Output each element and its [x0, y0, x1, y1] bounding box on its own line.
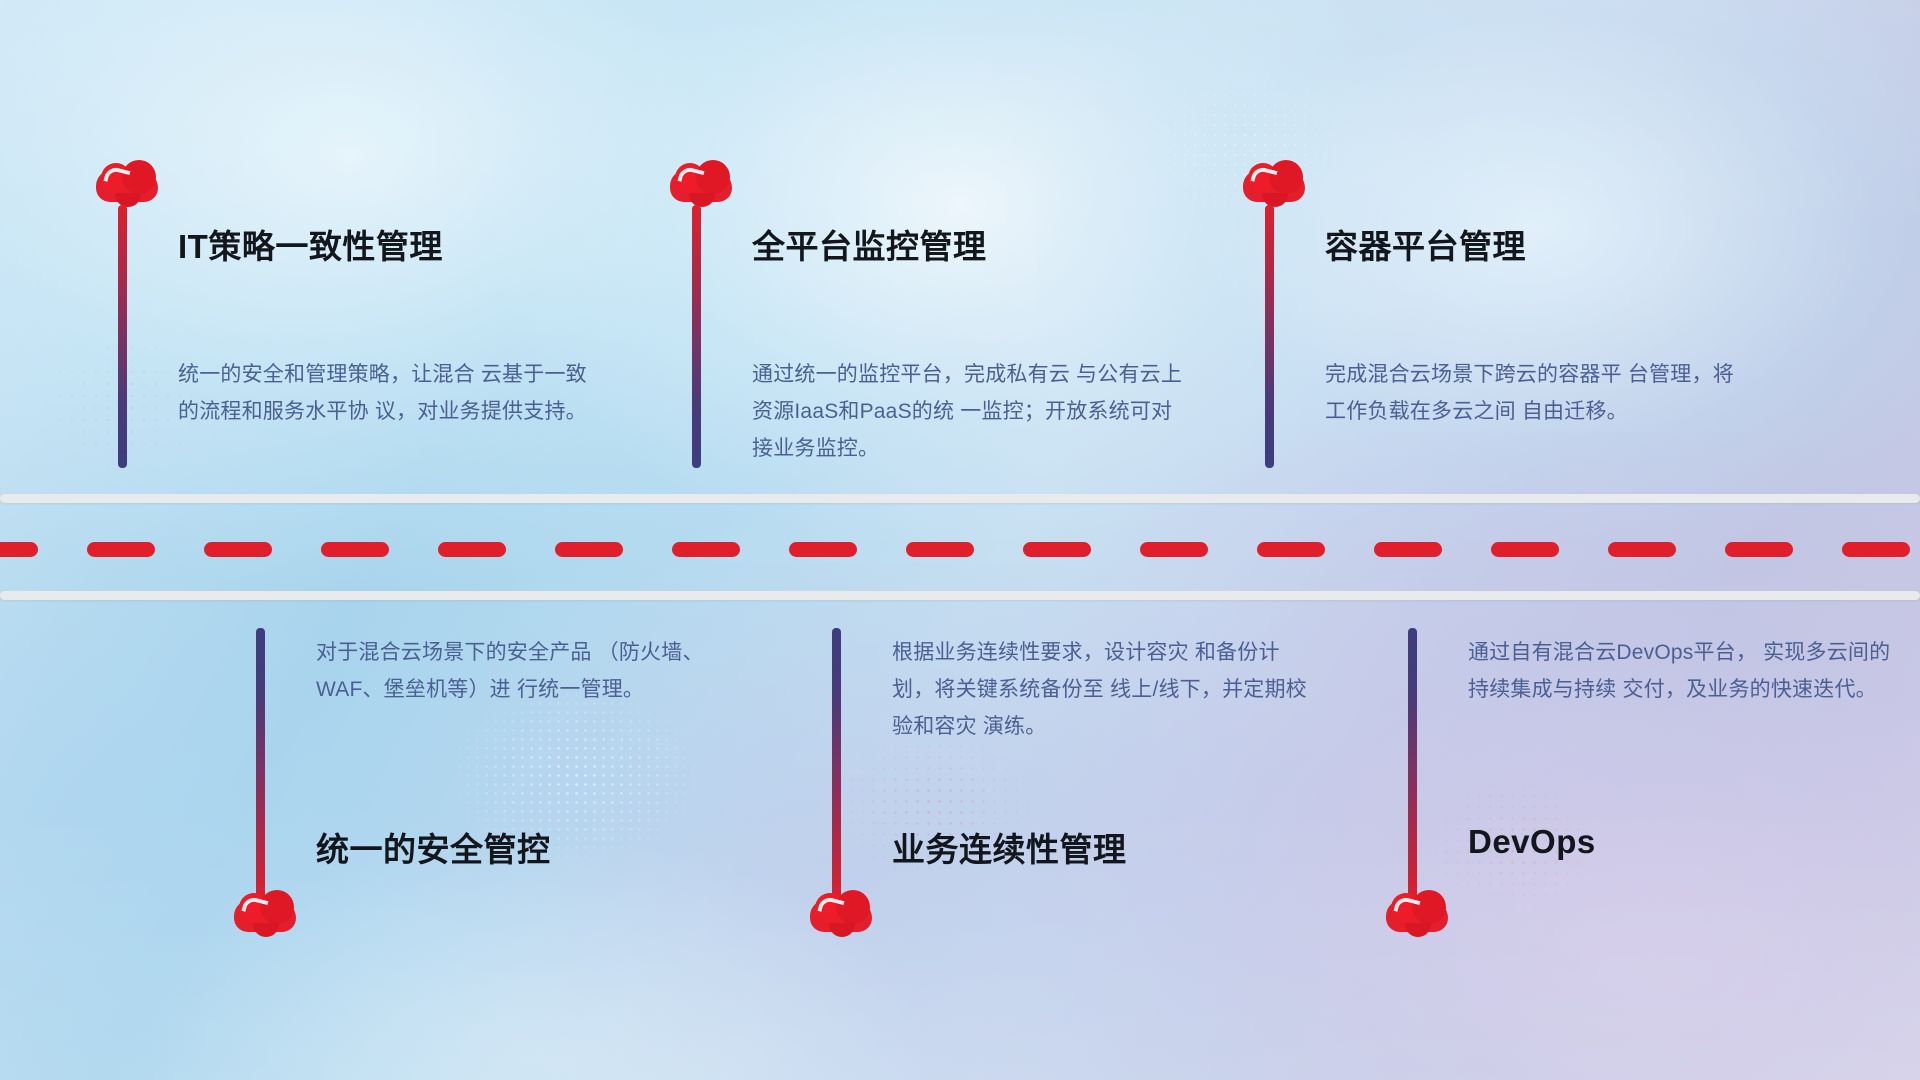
road-dash	[555, 542, 623, 557]
top-column-3-title: 容器平台管理	[1325, 220, 1526, 268]
road-dash	[906, 542, 974, 557]
road-edge-top	[0, 494, 1920, 503]
road-dash	[321, 542, 389, 557]
desc-line: 完成混合云场景下跨云的容器平	[1325, 363, 1622, 386]
bottom-column-3-description: 通过自有混合云DevOps平台， 实现多云间的持续集成与持续 交付，及业务的快速…	[1468, 634, 1898, 708]
cloud-icon	[810, 890, 872, 936]
connector-bar	[118, 205, 127, 468]
connector-bar	[832, 628, 841, 906]
cloud-icon	[670, 160, 732, 206]
desc-line: 自由迁移。	[1522, 400, 1628, 423]
cloud-icon	[234, 890, 296, 936]
road-dash	[1140, 542, 1208, 557]
desc-line: 交付，及业务的快速迭代。	[1622, 678, 1876, 701]
bottom-column-2-description: 根据业务连续性要求，设计容灾 和备份计划，将关键系统备份至 线上/线下，并定期校…	[892, 634, 1322, 745]
desc-line: 通过自有混合云DevOps平台，	[1468, 641, 1757, 664]
road-dash	[87, 542, 155, 557]
top-column-3-description: 完成混合云场景下跨云的容器平 台管理，将工作负载在多云之间 自由迁移。	[1325, 356, 1755, 430]
road-dash	[1023, 542, 1091, 557]
top-column-2-description: 通过统一的监控平台，完成私有云 与公有云上资源IaaS和PaaS的统 一监控；开…	[752, 356, 1192, 467]
connector-bar	[1408, 628, 1417, 906]
road-dash	[438, 542, 506, 557]
road-dash	[1257, 542, 1325, 557]
desc-line: 演练。	[983, 715, 1047, 738]
road-edge-bottom	[0, 591, 1920, 600]
road-dash	[204, 542, 272, 557]
connector-bar	[692, 205, 701, 468]
cloud-icon	[1386, 890, 1448, 936]
bottom-column-1-description: 对于混合云场景下的安全产品 （防火墙、WAF、堡垒机等）进 行统一管理。	[316, 634, 746, 708]
infographic-canvas: IT策略一致性管理 统一的安全和管理策略，让混合 云基于一致的流程和服务水平协 …	[0, 0, 1920, 1080]
connector-bar	[256, 628, 265, 906]
road-center-dashes	[0, 542, 1920, 557]
top-column-2-title: 全平台监控管理	[752, 220, 987, 268]
bottom-column-3-title: DevOps	[1468, 823, 1596, 861]
cloud-icon	[96, 160, 158, 206]
road-dash	[1842, 542, 1910, 557]
road-dash	[1491, 542, 1559, 557]
bottom-column-2-title: 业务连续性管理	[892, 823, 1127, 871]
road-dash	[0, 542, 38, 557]
desc-line: 通过统一的监控平台，完成私有云	[752, 363, 1070, 386]
cloud-icon	[1243, 160, 1305, 206]
top-column-1-description: 统一的安全和管理策略，让混合 云基于一致的流程和服务水平协 议，对业务提供支持。	[178, 356, 608, 430]
road-dash	[1374, 542, 1442, 557]
desc-line: 行统一管理。	[517, 678, 644, 701]
desc-line: 议，对业务提供支持。	[375, 400, 587, 423]
bottom-column-1-title: 统一的安全管控	[316, 823, 551, 871]
road-dash	[672, 542, 740, 557]
road-dash	[1725, 542, 1793, 557]
desc-line: 根据业务连续性要求，设计容灾	[892, 641, 1189, 664]
desc-line: 对于混合云场景下的安全产品	[316, 641, 592, 664]
desc-line: 统一的安全和管理策略，让混合	[178, 363, 475, 386]
connector-bar	[1265, 205, 1274, 468]
top-column-1-title: IT策略一致性管理	[178, 220, 443, 268]
road-dash	[789, 542, 857, 557]
road-dash	[1608, 542, 1676, 557]
